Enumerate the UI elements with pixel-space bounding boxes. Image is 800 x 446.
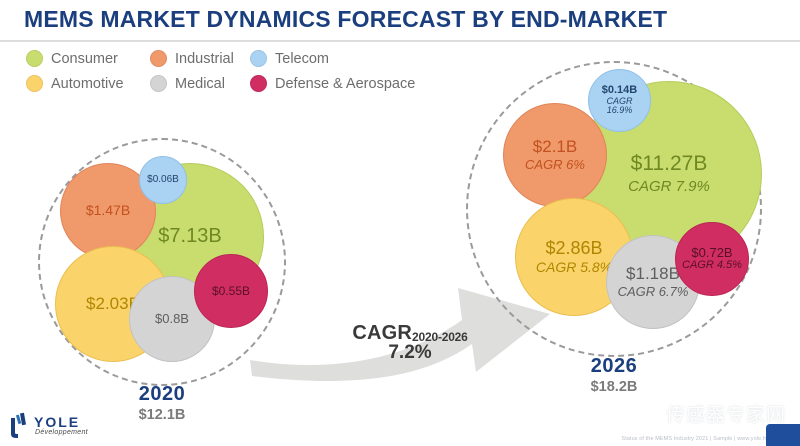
- legend-swatch-telecom-icon: [250, 50, 267, 67]
- year-total-2026: $18.2B: [534, 379, 694, 395]
- legend-swatch-medical-icon: [150, 75, 167, 92]
- bubble-2026-industrial[interactable]: $2.1B CAGR 6%: [503, 103, 607, 207]
- bubble-2026-industrial-cagr: CAGR 6%: [525, 158, 585, 172]
- wechat-watermark: 传感器专家网: [629, 400, 786, 427]
- corner-tab: [766, 424, 800, 446]
- bubble-cluster-2020: $7.13B $1.47B $0.06B $2.03B $0.8B $0.55B: [35, 135, 290, 390]
- legend-label-industrial: Industrial: [175, 51, 234, 67]
- bubble-2026-consumer-cagr: CAGR 7.9%: [628, 179, 710, 195]
- legend-item-telecom[interactable]: Telecom: [250, 50, 329, 67]
- bubble-2026-automotive-cagr: CAGR 5.8%: [536, 260, 612, 275]
- infographic-canvas: MEMS MARKET DYNAMICS FORECAST BY END-MAR…: [0, 0, 800, 446]
- bubble-2026-medical-value: $1.18B: [626, 265, 680, 283]
- wechat-watermark-text: 传感器专家网: [666, 400, 786, 427]
- bubble-2020-telecom-value: $0.06B: [147, 175, 179, 186]
- bubble-2020-medical-value: $0.8B: [155, 312, 189, 326]
- bubble-2020-industrial-value: $1.47B: [86, 203, 130, 218]
- bubble-2026-telecom[interactable]: $0.14B CAGR 16.9%: [588, 69, 651, 132]
- legend-swatch-consumer-icon: [26, 50, 43, 67]
- bubble-cluster-2026: $11.27B CAGR 7.9% $2.1B CAGR 6% $0.14B C…: [463, 58, 765, 360]
- legend-item-automotive[interactable]: Automotive: [26, 75, 124, 92]
- yole-mark-icon: [8, 412, 32, 440]
- bubble-2026-telecom-value: $0.14B: [602, 85, 637, 97]
- bubble-2026-defense-cagr: CAGR 4.5%: [682, 260, 742, 272]
- bubble-2020-defense-value: $0.55B: [212, 285, 250, 298]
- legend-item-medical[interactable]: Medical: [150, 75, 225, 92]
- title-divider: [0, 40, 800, 42]
- bubble-2020-telecom[interactable]: $0.06B: [139, 156, 187, 204]
- legend-item-consumer[interactable]: Consumer: [26, 50, 118, 67]
- legend: Consumer Industrial Telecom Automotive M…: [26, 50, 446, 98]
- year-label-2020: 2020: [82, 383, 242, 406]
- legend-label-medical: Medical: [175, 76, 225, 92]
- legend-label-consumer: Consumer: [51, 51, 118, 67]
- bubble-2026-defense-value: $0.72B: [691, 246, 732, 260]
- year-caption-2026: 2026 $18.2B: [534, 355, 694, 395]
- yole-logo: YOLE Développement: [8, 412, 128, 444]
- legend-label-telecom: Telecom: [275, 51, 329, 67]
- source-note: Status of the MEMS Industry 2021 | Sampl…: [621, 436, 788, 442]
- legend-label-defense: Defense & Aerospace: [275, 76, 415, 92]
- yole-logo-text: YOLE: [34, 414, 80, 430]
- bubble-2026-industrial-value: $2.1B: [533, 138, 577, 156]
- yole-logo-subtitle: Développement: [35, 429, 88, 436]
- bubble-2026-medical-cagr: CAGR 6.7%: [618, 285, 689, 299]
- page-title: MEMS MARKET DYNAMICS FORECAST BY END-MAR…: [24, 6, 667, 33]
- cagr-word: CAGR: [352, 322, 412, 344]
- bubble-2026-defense[interactable]: $0.72B CAGR 4.5%: [675, 222, 749, 296]
- bubble-2020-defense[interactable]: $0.55B: [194, 254, 268, 328]
- bubble-2020-consumer-value: $7.13B: [158, 226, 221, 248]
- legend-item-defense[interactable]: Defense & Aerospace: [250, 75, 415, 92]
- legend-label-automotive: Automotive: [51, 76, 124, 92]
- year-label-2026: 2026: [534, 355, 694, 378]
- legend-item-industrial[interactable]: Industrial: [150, 50, 234, 67]
- legend-swatch-industrial-icon: [150, 50, 167, 67]
- legend-swatch-defense-icon: [250, 75, 267, 92]
- bubble-2026-telecom-cagr-value: 16.9%: [607, 106, 633, 116]
- bubble-2026-automotive-value: $2.86B: [545, 239, 602, 258]
- bubble-2026-consumer-value: $11.27B: [631, 153, 708, 176]
- wechat-icon: [629, 403, 659, 425]
- legend-swatch-automotive-icon: [26, 75, 43, 92]
